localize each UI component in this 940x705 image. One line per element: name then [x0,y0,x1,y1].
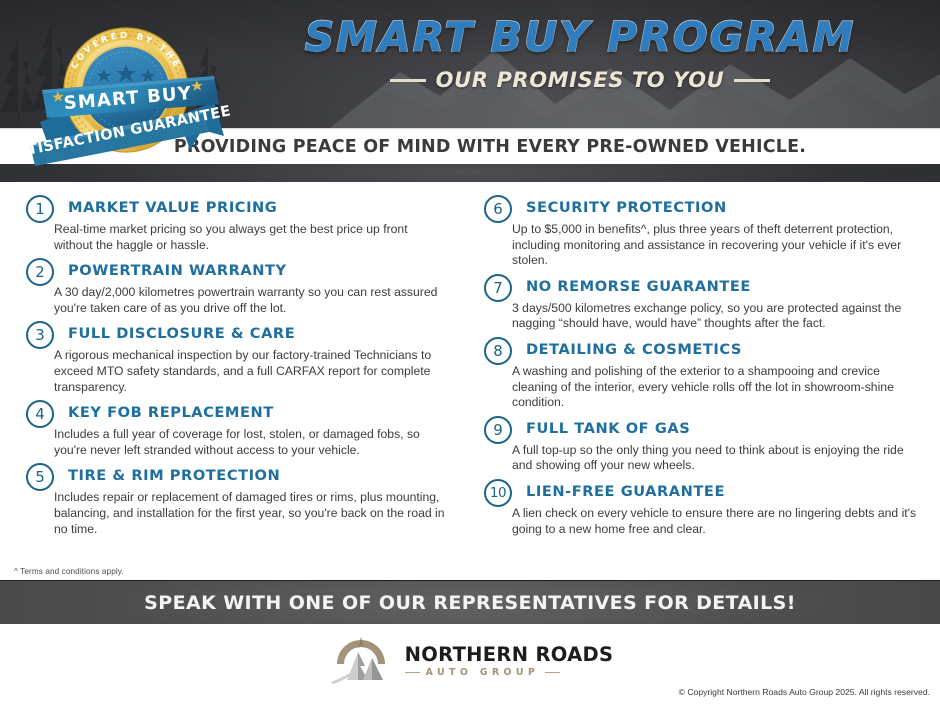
promise-title: TIRE & RIM PROTECTION [68,465,448,487]
brand-tagline-dash-right [545,672,560,674]
subtitle-row: OUR PROMISES TO YOU [230,68,930,92]
promise-number-badge: 10 [484,479,512,507]
promise-title: NO REMORSE GUARANTEE [526,276,922,298]
promise-number-badge: 1 [26,195,54,223]
promise-item: 3 FULL DISCLOSURE & CARE A rigorous mech… [26,320,448,395]
promise-description: Up to $5,000 in benefits^, plus three ye… [512,222,922,269]
promise-title: KEY FOB REPLACEMENT [68,402,448,424]
promise-description: Includes a full year of coverage for los… [54,427,448,458]
smart-buy-program-poster: SMART BUY PROGRAM OUR PROMISES TO YOU [0,0,940,705]
promise-number-badge: 3 [26,321,54,349]
promise-number-badge: 5 [26,463,54,491]
brand-tagline-dash-left [405,672,420,674]
promise-number-badge: 8 [484,337,512,365]
page-subtitle: OUR PROMISES TO YOU [436,68,725,92]
promise-title: FULL DISCLOSURE & CARE [68,323,448,345]
promise-item: 4 KEY FOB REPLACEMENT Includes a full ye… [26,399,448,458]
promises-column-left: 1 MARKET VALUE PRICING Real-time market … [0,194,470,541]
footer: NORTHERN ROADS AUTO GROUP © Copyright No… [0,624,940,705]
promise-description: 3 days/500 kilometres exchange policy, s… [512,301,922,332]
promise-title: LIEN-FREE GUARANTEE [526,481,922,503]
promise-title: FULL TANK OF GAS [526,418,922,440]
promise-description: A full top-up so the only thing you need… [512,443,922,474]
promise-number-badge: 9 [484,416,512,444]
promise-number-badge: 7 [484,274,512,302]
promise-title: MARKET VALUE PRICING [68,197,448,219]
cta-text: SPEAK WITH ONE OF OUR REPRESENTATIVES FO… [144,592,796,614]
promise-description: A lien check on every vehicle to ensure … [512,506,922,537]
promise-description: A rigorous mechanical inspection by our … [54,348,448,395]
promise-item: 10 LIEN-FREE GUARANTEE A lien check on e… [484,478,922,537]
promise-item: 9 FULL TANK OF GAS A full top-up so the … [484,415,922,474]
promise-description: A washing and polishing of the exterior … [512,364,922,411]
promise-description: Real-time market pricing so you always g… [54,222,448,253]
cta-bar[interactable]: SPEAK WITH ONE OF OUR REPRESENTATIVES FO… [0,580,940,624]
promises-column-right: 6 SECURITY PROTECTION Up to $5,000 in be… [470,194,940,541]
brand-logo-text: NORTHERN ROADS AUTO GROUP [405,644,614,678]
page-title: SMART BUY PROGRAM [230,14,930,60]
subtitle-dash-left [390,79,426,82]
smart-buy-satisfaction-guarantee-badge: COVERED BY THE SMART BUY [18,4,243,174]
subtitle-dash-right [734,79,770,82]
promise-item: 8 DETAILING & COSMETICS A washing and po… [484,336,922,411]
promise-description: Includes repair or replacement of damage… [54,490,448,537]
northern-roads-mountain-icon [327,636,395,686]
copyright-text: © Copyright Northern Roads Auto Group 20… [679,687,930,697]
promise-title: SECURITY PROTECTION [526,197,922,219]
promise-number-badge: 6 [484,195,512,223]
brand-tagline-row: AUTO GROUP [405,667,614,678]
promise-item: 7 NO REMORSE GUARANTEE 3 days/500 kilome… [484,273,922,332]
promise-item: 2 POWERTRAIN WARRANTY A 30 day/2,000 kil… [26,257,448,316]
promise-number-badge: 4 [26,400,54,428]
brand-name: NORTHERN ROADS [405,644,614,665]
promise-item: 6 SECURITY PROTECTION Up to $5,000 in be… [484,194,922,269]
promises-columns: 1 MARKET VALUE PRICING Real-time market … [0,194,940,541]
promise-title: DETAILING & COSMETICS [526,339,922,361]
promise-number-badge: 2 [26,258,54,286]
header-title-group: SMART BUY PROGRAM OUR PROMISES TO YOU [230,14,930,92]
promises-section: 1 MARKET VALUE PRICING Real-time market … [0,182,940,580]
promise-description: A 30 day/2,000 kilometres powertrain war… [54,285,448,316]
brand-logo: NORTHERN ROADS AUTO GROUP [0,636,940,686]
promise-item: 5 TIRE & RIM PROTECTION Includes repair … [26,462,448,537]
promise-item: 1 MARKET VALUE PRICING Real-time market … [26,194,448,253]
brand-tagline: AUTO GROUP [426,667,540,678]
promise-title: POWERTRAIN WARRANTY [68,260,448,282]
terms-and-conditions-note: ^ Terms and conditions apply. [14,567,124,576]
